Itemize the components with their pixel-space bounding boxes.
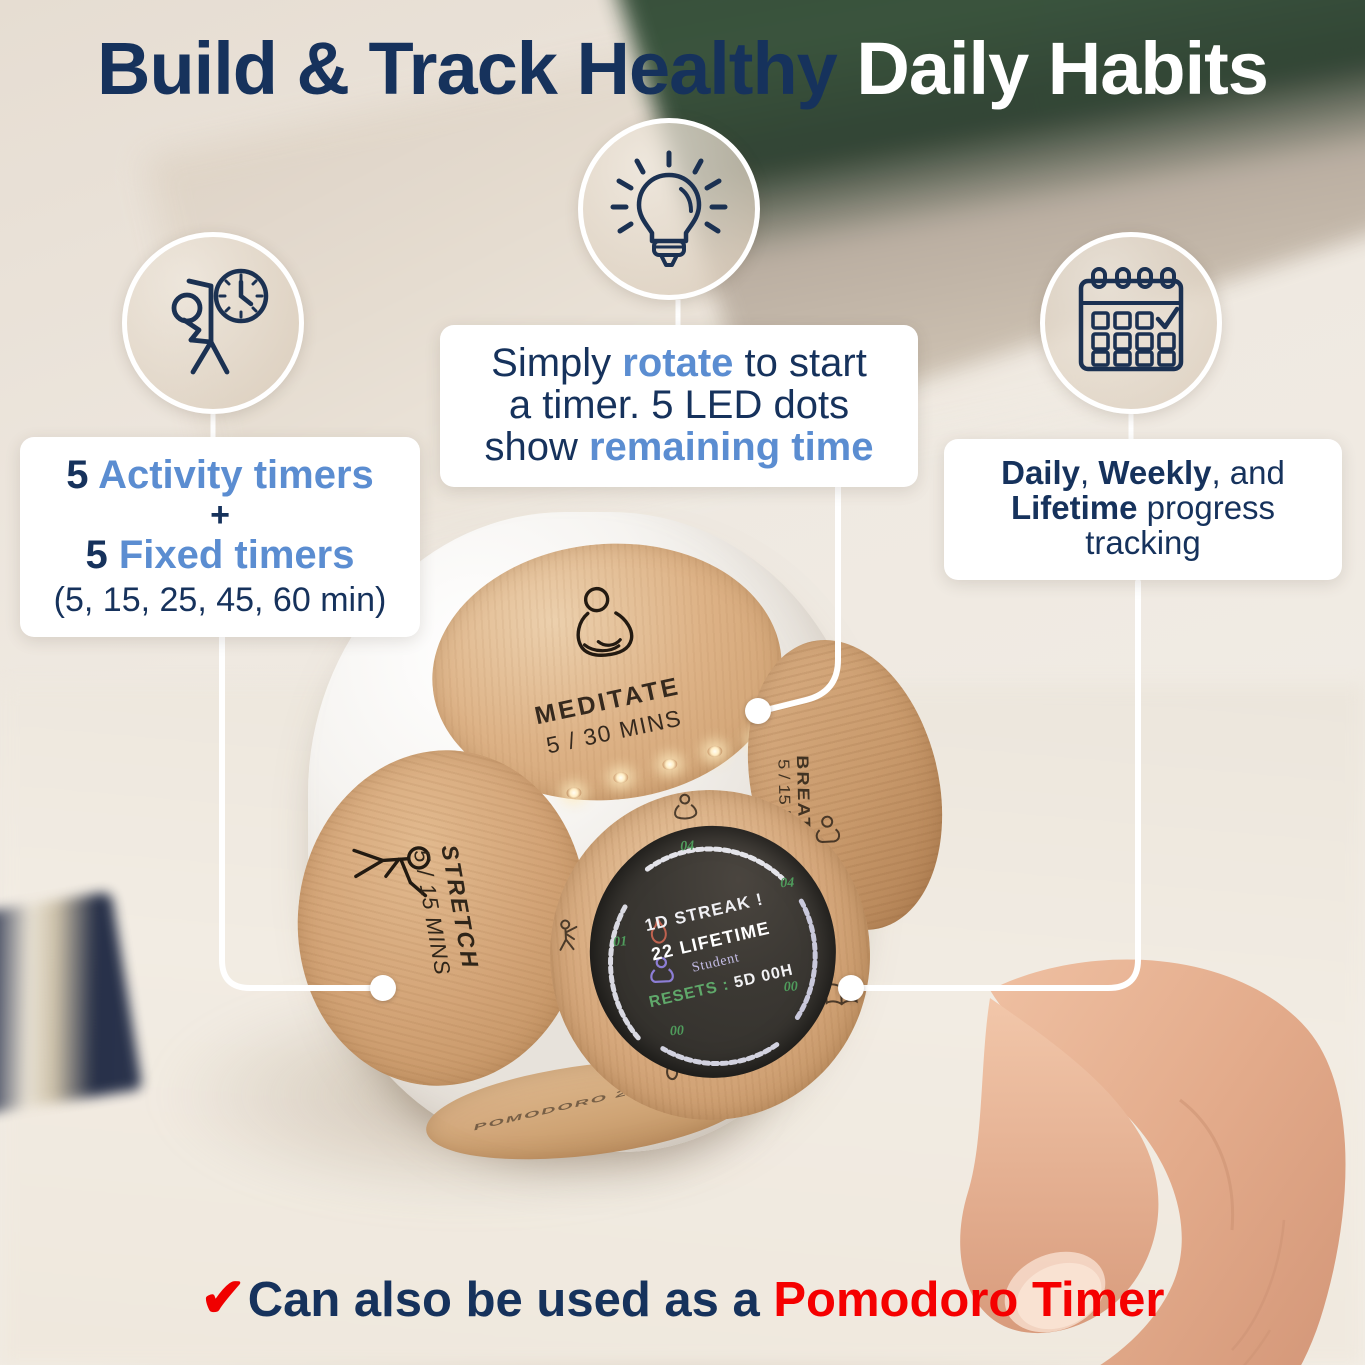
callout-left-plus: +: [40, 496, 400, 534]
callout-center-text-1b: to start: [733, 341, 866, 385]
callout-right-lifetime: Lifetime: [1011, 489, 1138, 526]
callout-right-progress: progress: [1137, 489, 1275, 526]
callout-left-count-2: 5: [85, 533, 118, 577]
callout-right-line-3: tracking: [964, 525, 1322, 562]
callout-center-text-3a: show: [484, 425, 589, 469]
callout-center-line-3: show remaining time: [460, 425, 898, 470]
stretch-face-label: STRETCH 5 / 15 MINS: [407, 842, 483, 977]
led-dot: [662, 758, 678, 770]
footer-text-b: Pomodoro Timer: [773, 1273, 1164, 1327]
callout-left-highlight-1: Activity timers: [98, 453, 374, 497]
stretch-clock-icon: [153, 268, 273, 378]
callout-right-line-1: Daily, Weekly, and: [964, 455, 1322, 492]
callout-right-sep-1: ,: [1080, 454, 1098, 491]
callout-right-daily: Daily: [1001, 454, 1080, 491]
calendar-check-icon: [1073, 267, 1189, 379]
led-dot: [566, 787, 582, 799]
callout-center-highlight-1: rotate: [622, 341, 733, 385]
connector-dot-display: [838, 975, 864, 1001]
callout-center-line-1: Simply rotate to start: [460, 341, 898, 386]
device-screen[interactable]: 04 04 00 00 01 1D STREAK ! 22 LIFETIME S…: [583, 820, 842, 1085]
callout-right-sep-2: , and: [1211, 454, 1284, 491]
ring-number-bottom-right: 00: [783, 979, 798, 996]
connector-dot-stretch: [370, 975, 396, 1001]
meditate-person-icon: [548, 581, 659, 672]
callout-right-weekly: Weekly: [1098, 454, 1211, 491]
callout-left-durations: (5, 15, 25, 45, 60 min): [40, 581, 400, 619]
badge-rotate-tip[interactable]: [578, 118, 760, 300]
page-title-part-a: Build & Track Healthy: [97, 27, 856, 110]
ring-number-bottom: 00: [670, 1023, 685, 1040]
callout-center-text-1a: Simply: [491, 341, 622, 385]
callout-progress-tracking: Daily, Weekly, and Lifetime progress tra…: [944, 439, 1342, 580]
connector-dot-led: [745, 698, 771, 724]
stretch-small-icon: [556, 916, 588, 952]
page-title: Build & Track Healthy Daily Habits: [0, 26, 1365, 111]
meditate-small-icon: [670, 792, 701, 822]
badge-progress-tracking[interactable]: [1040, 232, 1222, 414]
callout-left-highlight-2: Fixed timers: [119, 533, 355, 577]
callout-rotate-timer: Simply rotate to start a timer. 5 LED do…: [440, 325, 918, 487]
ring-number-top: 04: [680, 839, 695, 856]
footer-text-a: Can also be used as a: [248, 1273, 774, 1327]
led-dot: [707, 745, 723, 757]
lightbulb-icon: [609, 149, 729, 269]
check-icon: ✔: [201, 1268, 246, 1328]
callout-right-line-2: Lifetime progress: [964, 490, 1322, 527]
callout-left-line-1: 5 Activity timers: [40, 453, 400, 498]
callout-center-line-2: a timer. 5 LED dots: [460, 383, 898, 428]
callout-left-count-1: 5: [66, 453, 98, 497]
callout-activity-timers: 5 Activity timers + 5 Fixed timers (5, 1…: [20, 437, 420, 637]
callout-left-line-3: 5 Fixed timers: [40, 533, 400, 578]
page-title-part-b: Daily Habits: [856, 27, 1268, 110]
badge-activity-timers[interactable]: [122, 232, 304, 414]
led-dot: [613, 772, 629, 784]
callout-center-highlight-2: remaining time: [589, 425, 874, 469]
footer-tagline: ✔Can also be used as a Pomodoro Timer: [0, 1266, 1365, 1329]
